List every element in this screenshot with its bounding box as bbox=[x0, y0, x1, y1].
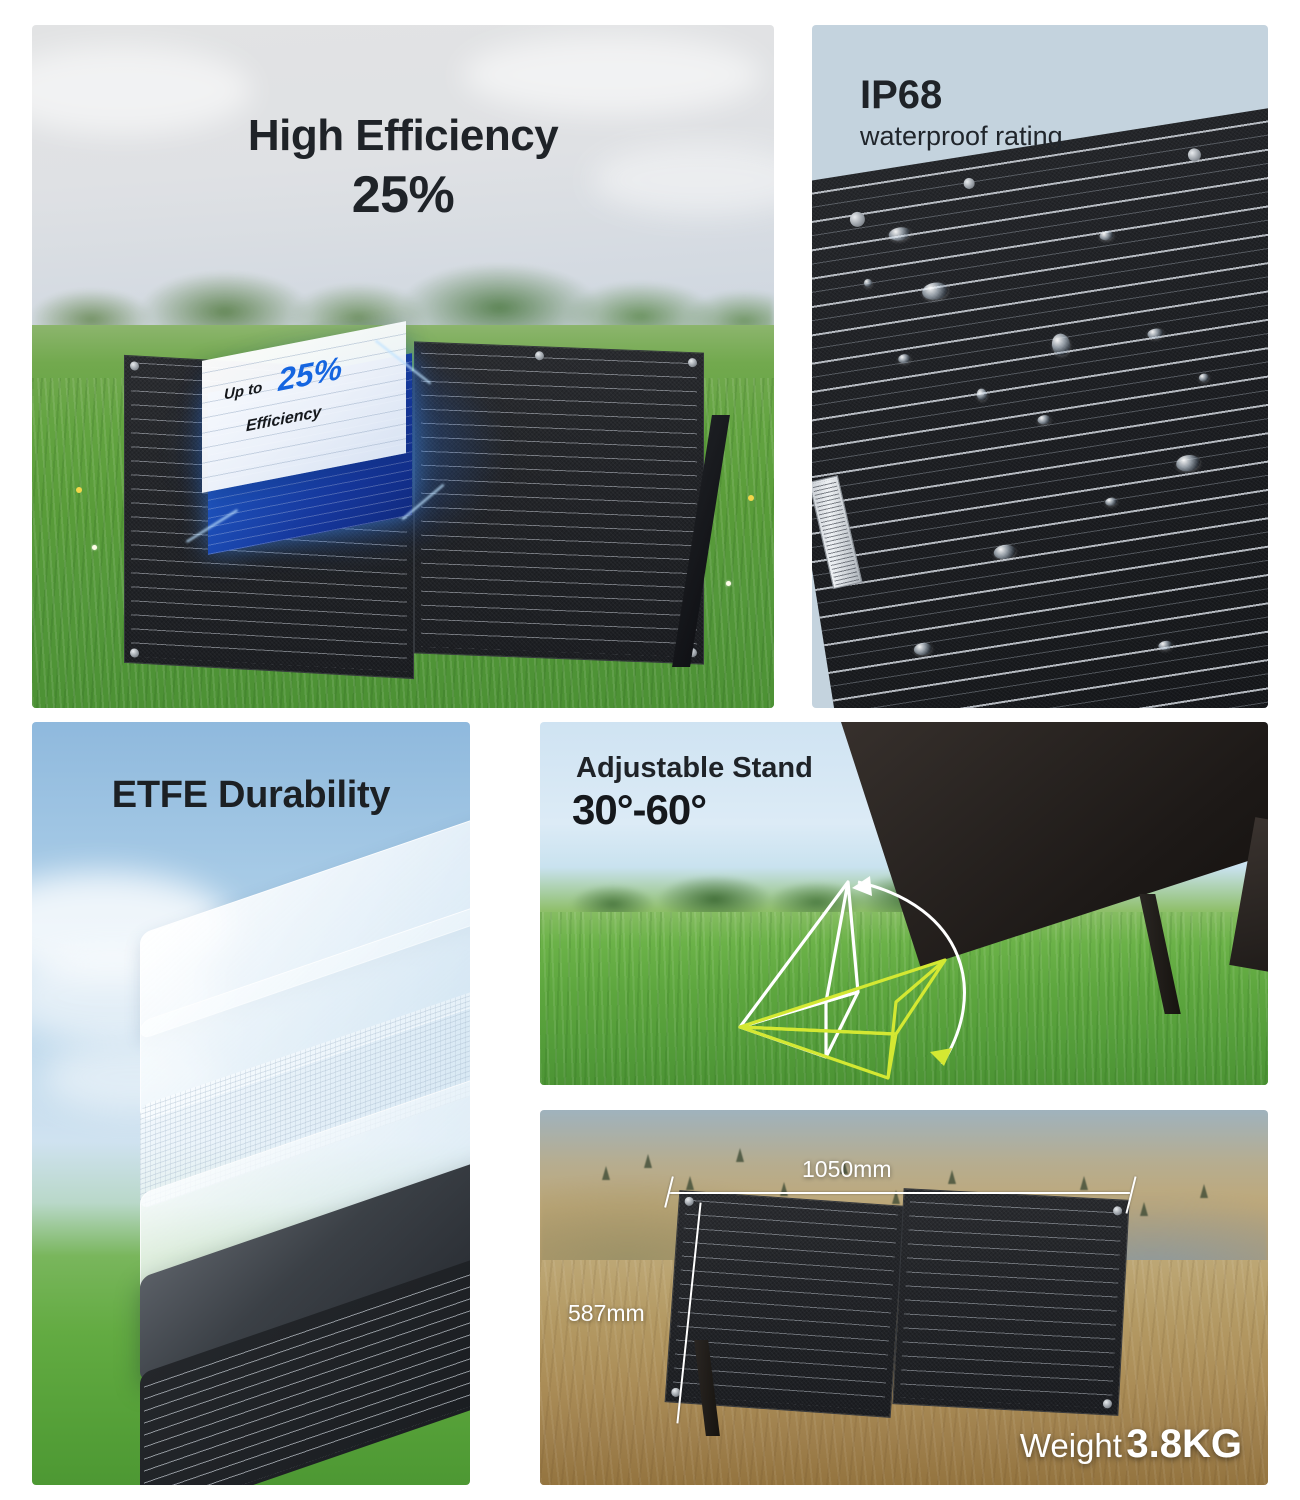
dim-panel-right bbox=[892, 1188, 1129, 1416]
width-dimension-label: 1050mm bbox=[802, 1156, 891, 1183]
flower-decor bbox=[76, 487, 82, 493]
card-ip68-waterproof: IP68 waterproof rating bbox=[812, 25, 1268, 708]
ip68-subtitle: waterproof rating bbox=[860, 121, 1063, 152]
weight-value: 3.8KG bbox=[1126, 1422, 1242, 1466]
flower-decor bbox=[726, 581, 731, 586]
grommet-icon bbox=[688, 358, 697, 367]
grommet-icon bbox=[535, 351, 544, 360]
flower-decor bbox=[748, 495, 754, 501]
grommet-icon bbox=[130, 648, 139, 658]
angle-arrow-up bbox=[852, 876, 872, 896]
efficiency-callout: Up to 25% Efficiency bbox=[172, 325, 502, 575]
stand-title: Adjustable Stand bbox=[576, 752, 813, 785]
callout-suffix: Efficiency bbox=[246, 404, 321, 437]
cloud-decor bbox=[462, 35, 762, 115]
ip68-title: IP68 bbox=[860, 73, 942, 118]
card-etfe-durability: ETFE Durability bbox=[32, 722, 470, 1485]
etfe-title: ETFE Durability bbox=[32, 774, 470, 817]
weight-word: Weight bbox=[1020, 1427, 1122, 1464]
efficiency-value: 25% bbox=[32, 165, 774, 225]
flower-decor bbox=[92, 545, 97, 550]
panel-weave-texture bbox=[893, 1189, 1128, 1415]
card-dimensions-weight: 1050mm 587mm Weight 3.8KG bbox=[540, 1110, 1268, 1485]
angle-arc-up bbox=[858, 882, 964, 1064]
card-adjustable-stand: Adjustable Stand 30°-60° bbox=[540, 722, 1268, 1085]
angle-diagram bbox=[730, 852, 1050, 1082]
grommet-icon bbox=[130, 361, 139, 371]
waterproof-panel-graphic bbox=[812, 87, 1268, 708]
stand-angle-value: 30°-60° bbox=[572, 786, 706, 834]
callout-percent: 25% bbox=[278, 350, 342, 399]
card-high-efficiency: High Efficiency 25% Up to 25% E bbox=[32, 25, 774, 708]
efficiency-title: High Efficiency bbox=[32, 111, 774, 161]
height-dimension-label: 587mm bbox=[568, 1300, 645, 1327]
weight-label: Weight 3.8KG bbox=[1020, 1422, 1242, 1467]
width-dimension-line bbox=[668, 1192, 1130, 1194]
callout-prefix: Up to bbox=[224, 379, 262, 403]
panel-cell-rows bbox=[812, 87, 1268, 708]
